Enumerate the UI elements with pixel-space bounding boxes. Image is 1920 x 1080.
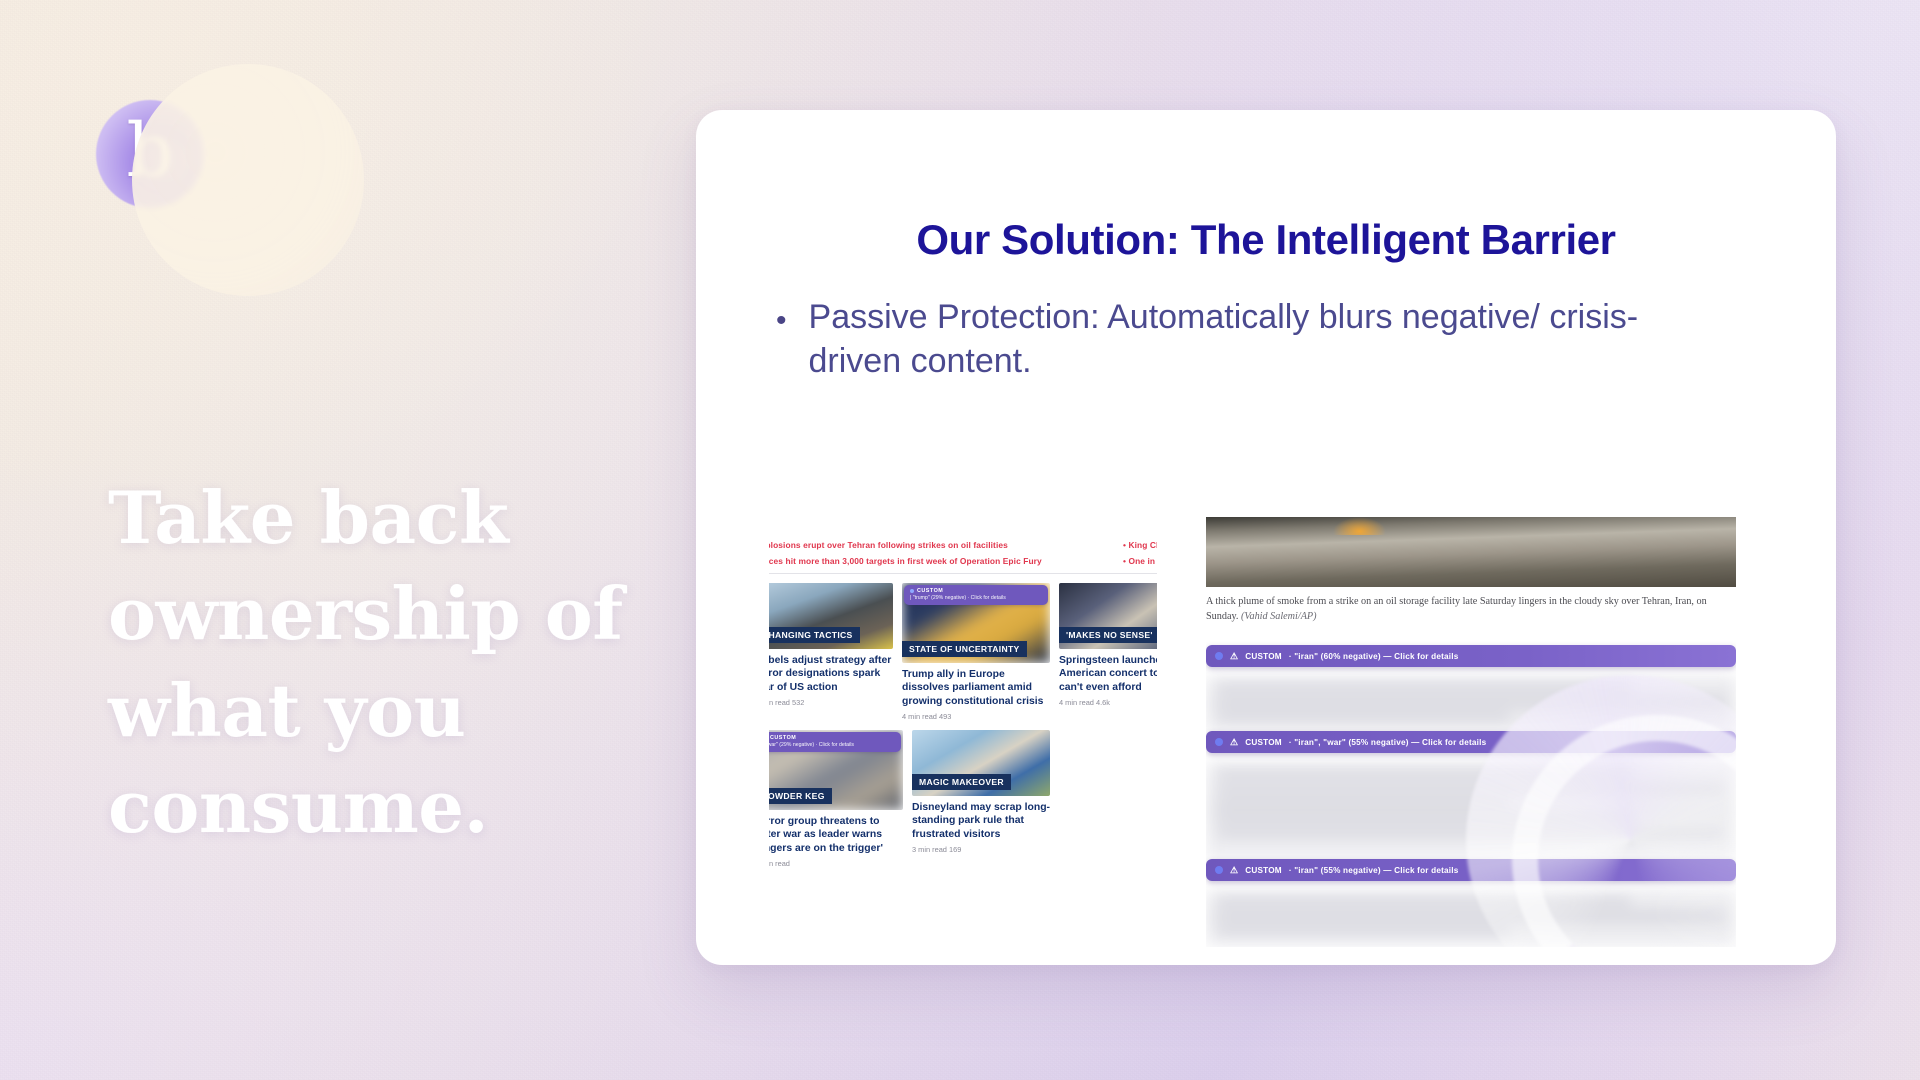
banner-label: CUSTOM bbox=[1245, 652, 1282, 661]
banner-text: · "iran", "war" (55% negative) — Click f… bbox=[1289, 738, 1487, 747]
news-card-title[interactable]: Trump ally in Europe dissolves parliamen… bbox=[902, 668, 1050, 708]
ticker-row: Explosions erupt over Tehran following s… bbox=[769, 537, 1157, 553]
news-card-kicker: POWDER KEG bbox=[769, 788, 832, 804]
tagline-line-2: ownership of bbox=[108, 566, 628, 662]
ticker-row: Forces hit more than 3,000 targets in fi… bbox=[769, 553, 1157, 569]
news-card[interactable]: CHANGING TACTICS Rebels adjust strategy … bbox=[769, 583, 893, 721]
warning-triangle-icon: ⚠ bbox=[1230, 865, 1238, 876]
news-card-kicker: 'MAKES NO SENSE' bbox=[1059, 627, 1157, 643]
news-card-kicker: MAGIC MAKEOVER bbox=[912, 774, 1011, 790]
breaking-news-ticker: Explosions erupt over Tehran following s… bbox=[769, 537, 1157, 569]
news-card-title[interactable]: Disneyland may scrap long-standing park … bbox=[912, 801, 1050, 841]
custom-warning-banner[interactable]: ⚠ CUSTOM · "iran", "war" (55% negative) … bbox=[1206, 731, 1736, 753]
slide-title: Our Solution: The Intelligent Barrier bbox=[696, 216, 1836, 264]
custom-warning-banner[interactable]: ⚠ CUSTOM · "iran" (55% negative) — Click… bbox=[1206, 859, 1736, 881]
news-card-flagged[interactable]: CUSTOM | "war" (29% negative) · Click fo… bbox=[769, 730, 903, 868]
warning-triangle-icon: ⚠ bbox=[1230, 651, 1238, 662]
brand-logo: b bbox=[96, 92, 326, 297]
badge-dot-icon bbox=[910, 589, 914, 593]
custom-flag-badge[interactable]: CUSTOM | "trump" (29% negative) · Click … bbox=[904, 585, 1048, 605]
article-caption: A thick plume of smoke from a strike on … bbox=[1206, 595, 1736, 625]
banner-dot-icon bbox=[1215, 652, 1223, 660]
news-card-kicker: CHANGING TACTICS bbox=[769, 627, 860, 643]
news-card-meta: 4 min read 4.6k bbox=[1059, 698, 1157, 707]
news-card-title[interactable]: Terror group threatens to enter war as l… bbox=[769, 815, 903, 855]
blurred-article-body bbox=[1206, 675, 1736, 735]
logo-overlay-circle bbox=[132, 64, 364, 296]
news-card-thumbnail: CHANGING TACTICS bbox=[769, 583, 893, 649]
ticker-headline[interactable]: Explosions erupt over Tehran following s… bbox=[769, 537, 1105, 553]
warning-triangle-icon: ⚠ bbox=[1230, 737, 1238, 748]
blurred-article-body bbox=[1206, 889, 1736, 947]
bullet-marker-icon: • bbox=[776, 295, 787, 383]
ticker-headline[interactable]: Forces hit more than 3,000 targets in fi… bbox=[769, 553, 1105, 569]
article-hero-image bbox=[1206, 517, 1736, 587]
news-card-thumbnail: CUSTOM | "trump" (29% negative) · Click … bbox=[902, 583, 1050, 663]
ticker-headline[interactable]: One in three Americans reject US evacuat… bbox=[1123, 553, 1157, 569]
bullet-text: Passive Protection: Automatically blurs … bbox=[809, 295, 1689, 383]
blurred-article-body bbox=[1206, 761, 1736, 861]
bullet-list: • Passive Protection: Automatically blur… bbox=[776, 295, 1724, 383]
news-card[interactable]: 'MAKES NO SENSE' Springsteen launches Am… bbox=[1059, 583, 1157, 721]
news-card-meta: 4 min read 493 bbox=[902, 712, 1050, 721]
ticker-divider bbox=[769, 573, 1157, 574]
news-card-thumbnail: MAGIC MAKEOVER bbox=[912, 730, 1050, 796]
banner-label: CUSTOM bbox=[1245, 866, 1282, 875]
badge-header: CUSTOM bbox=[769, 735, 895, 741]
news-card-thumbnail: 'MAKES NO SENSE' bbox=[1059, 583, 1157, 649]
caption-credit: (Vahid Salemi/AP) bbox=[1241, 611, 1317, 622]
banner-label: CUSTOM bbox=[1245, 738, 1282, 747]
news-card-grid: CHANGING TACTICS Rebels adjust strategy … bbox=[769, 583, 1157, 868]
banner-text: · "iran" (55% negative) — Click for deta… bbox=[1289, 866, 1459, 875]
news-card-meta: 4 min read 532 bbox=[769, 698, 893, 707]
slide-card: Our Solution: The Intelligent Barrier • … bbox=[696, 110, 1836, 965]
news-card-meta: 3 min read 169 bbox=[912, 845, 1050, 854]
news-card-thumbnail: CUSTOM | "war" (29% negative) · Click fo… bbox=[769, 730, 903, 810]
tagline-line-3: what you bbox=[108, 663, 628, 759]
news-card[interactable]: MAGIC MAKEOVER Disneyland may scrap long… bbox=[912, 730, 1050, 868]
banner-text: · "iran" (60% negative) — Click for deta… bbox=[1289, 652, 1459, 661]
news-grid-screenshot: Explosions erupt over Tehran following s… bbox=[769, 525, 1157, 945]
news-card-title[interactable]: Rebels adjust strategy after terror desi… bbox=[769, 654, 893, 694]
ticker-headline[interactable]: King Charles warns of 'increasing pressu… bbox=[1123, 537, 1157, 553]
tagline-line-4: consume. bbox=[108, 759, 628, 855]
badge-detail: | "trump" (29% negative) · Click for det… bbox=[910, 595, 1042, 601]
custom-flag-badge[interactable]: CUSTOM | "war" (29% negative) · Click fo… bbox=[769, 732, 901, 752]
custom-warning-banner[interactable]: ⚠ CUSTOM · "iran" (60% negative) — Click… bbox=[1206, 645, 1736, 667]
badge-detail: | "war" (29% negative) · Click for detai… bbox=[769, 742, 895, 748]
bullet-item: • Passive Protection: Automatically blur… bbox=[776, 295, 1724, 383]
article-screenshot: A thick plume of smoke from a strike on … bbox=[1206, 507, 1736, 947]
news-card-kicker: STATE OF UNCERTAINTY bbox=[902, 641, 1027, 657]
badge-label: CUSTOM bbox=[917, 588, 943, 594]
tagline-line-1: Take back bbox=[108, 470, 628, 566]
badge-label: CUSTOM bbox=[770, 735, 796, 741]
news-card-meta: 4 min read bbox=[769, 859, 903, 868]
badge-header: CUSTOM bbox=[910, 588, 1042, 594]
tagline: Take back ownership of what you consume. bbox=[108, 470, 628, 856]
news-card-title[interactable]: Springsteen launches American concert to… bbox=[1059, 654, 1157, 694]
banner-dot-icon bbox=[1215, 738, 1223, 746]
banner-dot-icon bbox=[1215, 866, 1223, 874]
news-card-flagged[interactable]: CUSTOM | "trump" (29% negative) · Click … bbox=[902, 583, 1050, 721]
